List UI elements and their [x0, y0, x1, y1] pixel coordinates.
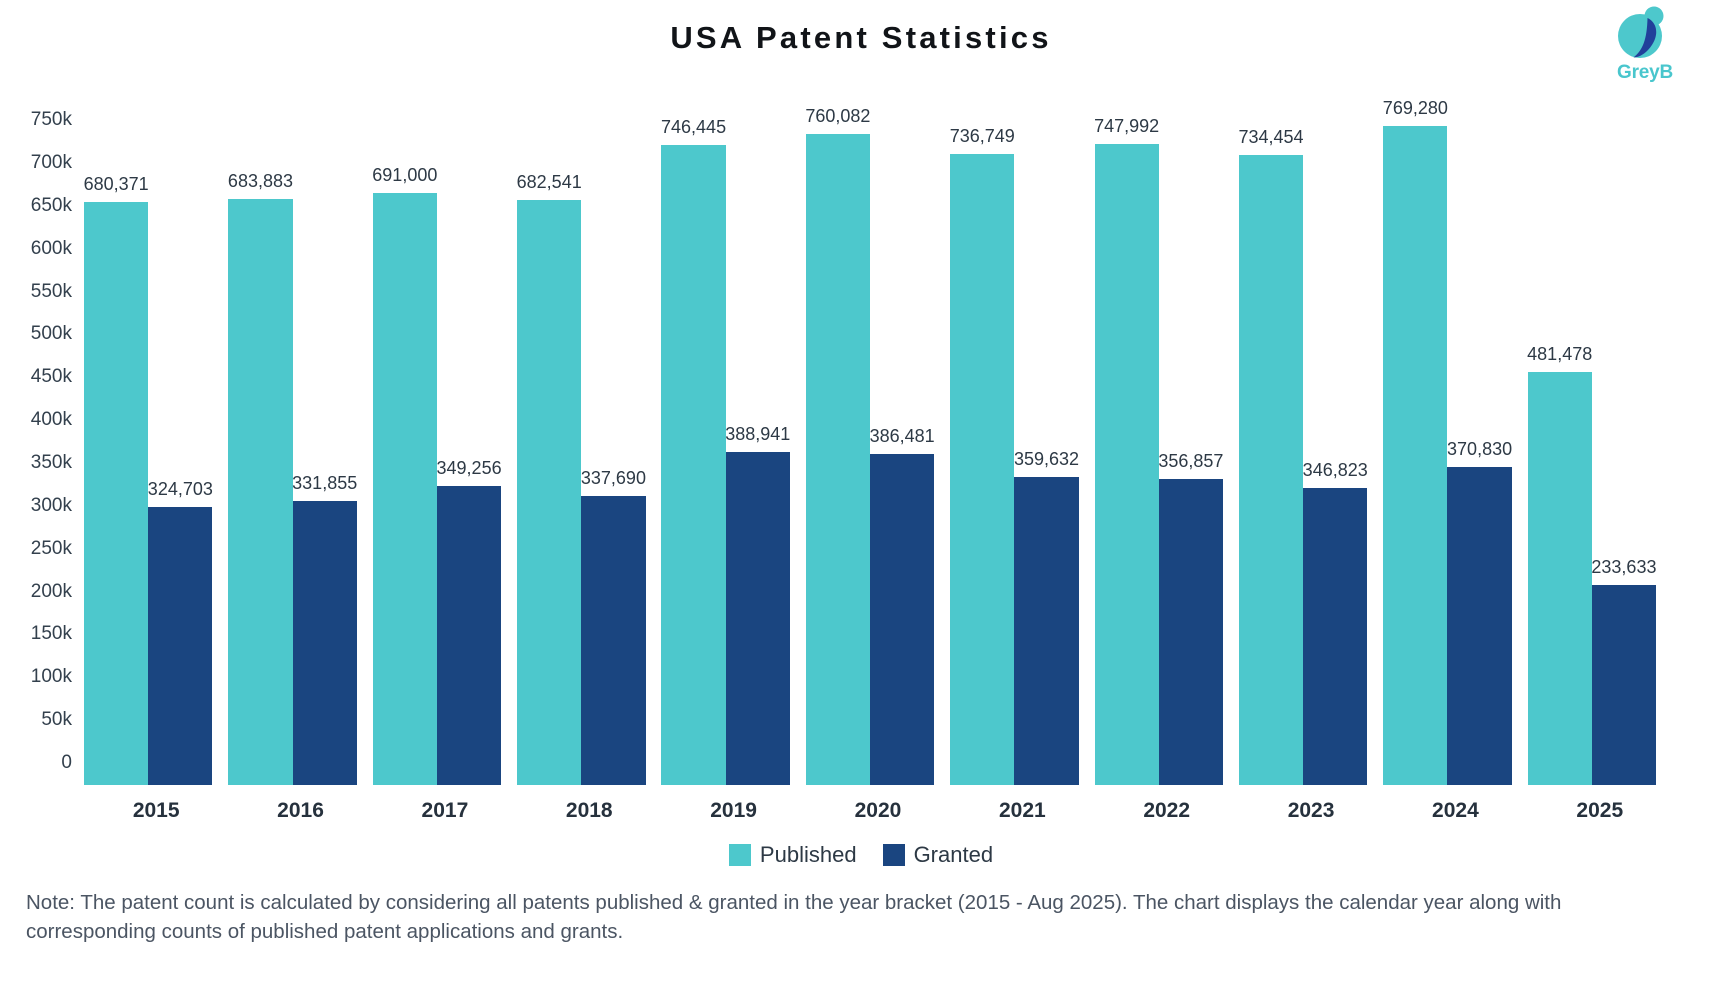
bar-slot: 683,883	[228, 110, 292, 785]
bar-value-label: 691,000	[372, 165, 437, 186]
x-axis: 2015201620172018201920202021202220232024…	[84, 785, 1672, 823]
legend-label: Granted	[914, 842, 994, 868]
y-axis-tick: 300k	[31, 495, 72, 517]
bar-published-2018[interactable]: 682,541	[517, 200, 581, 785]
y-axis-tick: 750k	[31, 109, 72, 131]
bar-published-2022[interactable]: 747,992	[1095, 144, 1159, 785]
bar-slot: 356,857	[1159, 110, 1223, 785]
y-axis-tick: 150k	[31, 623, 72, 645]
bar-granted-2023[interactable]: 346,823	[1303, 488, 1367, 785]
bar-slot: 691,000	[373, 110, 437, 785]
bar-slot: 370,830	[1447, 110, 1511, 785]
legend-swatch-icon	[883, 844, 905, 866]
bar-granted-2022[interactable]: 356,857	[1159, 479, 1223, 785]
y-axis-tick: 0	[61, 752, 72, 774]
x-axis-tick-2016: 2016	[228, 785, 372, 823]
bar-group: 682,541337,690	[517, 110, 661, 785]
x-axis-tick-2020: 2020	[806, 785, 950, 823]
bar-group: 691,000349,256	[373, 110, 517, 785]
bar-value-label: 736,749	[950, 126, 1015, 147]
legend-item-granted[interactable]: Granted	[883, 842, 994, 868]
bar-group: 760,082386,481	[806, 110, 950, 785]
bar-published-2016[interactable]: 683,883	[228, 199, 292, 785]
bar-value-label: 388,941	[725, 424, 790, 445]
x-axis-tick-2024: 2024	[1383, 785, 1527, 823]
greyb-logo[interactable]: GreyB	[1590, 4, 1700, 92]
bar-group: 736,749359,632	[950, 110, 1094, 785]
bar-slot: 760,082	[806, 110, 870, 785]
bar-value-label: 331,855	[292, 473, 357, 494]
bar-value-label: 324,703	[148, 479, 213, 500]
y-axis-tick: 200k	[31, 581, 72, 603]
y-axis-tick: 400k	[31, 409, 72, 431]
bar-slot: 682,541	[517, 110, 581, 785]
bar-value-label: 746,445	[661, 117, 726, 138]
bar-granted-2025[interactable]: 233,633	[1592, 585, 1656, 785]
x-axis-tick-2025: 2025	[1528, 785, 1672, 823]
bar-value-label: 356,857	[1158, 451, 1223, 472]
bar-value-label: 760,082	[805, 106, 870, 127]
bar-group: 680,371324,703	[84, 110, 228, 785]
plot-area: 050k100k150k200k250k300k350k400k450k500k…	[84, 110, 1672, 785]
bar-slot: 346,823	[1303, 110, 1367, 785]
bar-slot: 331,855	[293, 110, 357, 785]
y-axis-tick: 500k	[31, 323, 72, 345]
bar-group: 683,883331,855	[228, 110, 372, 785]
bar-slot: 746,445	[661, 110, 725, 785]
bar-slot: 734,454	[1239, 110, 1303, 785]
bar-value-label: 346,823	[1303, 460, 1368, 481]
greyb-wordmark: GreyB	[1590, 62, 1700, 84]
y-axis-tick: 700k	[31, 152, 72, 174]
bar-series-container: 680,371324,703683,883331,855691,000349,2…	[84, 110, 1672, 785]
bar-slot: 349,256	[437, 110, 501, 785]
bar-granted-2020[interactable]: 386,481	[870, 454, 934, 785]
bar-published-2017[interactable]: 691,000	[373, 193, 437, 785]
legend: PublishedGranted	[0, 842, 1722, 868]
bar-granted-2015[interactable]: 324,703	[148, 507, 212, 785]
bar-published-2020[interactable]: 760,082	[806, 134, 870, 785]
bar-value-label: 337,690	[581, 468, 646, 489]
y-axis-tick: 550k	[31, 281, 72, 303]
bar-published-2021[interactable]: 736,749	[950, 154, 1014, 785]
x-axis-tick-2019: 2019	[661, 785, 805, 823]
x-axis-tick-2022: 2022	[1095, 785, 1239, 823]
x-axis-tick-2018: 2018	[517, 785, 661, 823]
page-title: USA Patent Statistics	[0, 20, 1722, 56]
bar-slot: 359,632	[1014, 110, 1078, 785]
bar-value-label: 359,632	[1014, 449, 1079, 470]
bar-group: 746,445388,941	[661, 110, 805, 785]
bar-value-label: 734,454	[1238, 127, 1303, 148]
x-axis-tick-2017: 2017	[373, 785, 517, 823]
bar-slot: 769,280	[1383, 110, 1447, 785]
bar-slot: 388,941	[726, 110, 790, 785]
bar-slot: 337,690	[581, 110, 645, 785]
y-axis-tick: 250k	[31, 538, 72, 560]
bar-slot: 747,992	[1095, 110, 1159, 785]
bar-value-label: 370,830	[1447, 439, 1512, 460]
legend-swatch-icon	[729, 844, 751, 866]
x-axis-tick-2021: 2021	[950, 785, 1094, 823]
bar-value-label: 349,256	[437, 458, 502, 479]
bar-published-2019[interactable]: 746,445	[661, 145, 725, 785]
bar-slot: 680,371	[84, 110, 148, 785]
bar-published-2024[interactable]: 769,280	[1383, 126, 1447, 785]
greyb-bird-logo-icon	[1616, 6, 1674, 62]
bar-group: 747,992356,857	[1095, 110, 1239, 785]
legend-label: Published	[760, 842, 857, 868]
y-axis-tick: 450k	[31, 366, 72, 388]
bar-slot: 233,633	[1592, 110, 1656, 785]
bar-granted-2024[interactable]: 370,830	[1447, 467, 1511, 785]
bar-granted-2021[interactable]: 359,632	[1014, 477, 1078, 785]
bar-value-label: 233,633	[1591, 557, 1656, 578]
bar-value-label: 386,481	[870, 426, 935, 447]
bar-value-label: 683,883	[228, 171, 293, 192]
bar-value-label: 682,541	[517, 172, 582, 193]
y-axis-tick: 650k	[31, 195, 72, 217]
bar-slot: 736,749	[950, 110, 1014, 785]
bar-granted-2019[interactable]: 388,941	[726, 452, 790, 785]
bar-value-label: 481,478	[1527, 344, 1592, 365]
y-axis-tick: 50k	[41, 709, 72, 731]
bar-granted-2016[interactable]: 331,855	[293, 501, 357, 785]
bar-value-label: 680,371	[84, 174, 149, 195]
x-axis-tick-2015: 2015	[84, 785, 228, 823]
bar-slot: 324,703	[148, 110, 212, 785]
bar-published-2023[interactable]: 734,454	[1239, 155, 1303, 785]
bar-value-label: 769,280	[1383, 98, 1448, 119]
bar-slot: 386,481	[870, 110, 934, 785]
bar-group: 734,454346,823	[1239, 110, 1383, 785]
bar-group: 769,280370,830	[1383, 110, 1527, 785]
chart-page: USA Patent Statistics GreyB 050k100k150k…	[0, 0, 1722, 1000]
legend-item-published[interactable]: Published	[729, 842, 857, 868]
bar-published-2015[interactable]: 680,371	[84, 202, 148, 785]
bar-granted-2018[interactable]: 337,690	[581, 496, 645, 785]
chart-note: Note: The patent count is calculated by …	[26, 888, 1696, 946]
bar-slot: 481,478	[1528, 110, 1592, 785]
y-axis-tick: 100k	[31, 666, 72, 688]
bar-published-2025[interactable]: 481,478	[1528, 372, 1592, 785]
y-axis-tick: 350k	[31, 452, 72, 474]
bar-group: 481,478233,633	[1528, 110, 1672, 785]
bar-value-label: 747,992	[1094, 116, 1159, 137]
x-axis-tick-2023: 2023	[1239, 785, 1383, 823]
y-axis-tick: 600k	[31, 238, 72, 260]
bar-granted-2017[interactable]: 349,256	[437, 486, 501, 785]
